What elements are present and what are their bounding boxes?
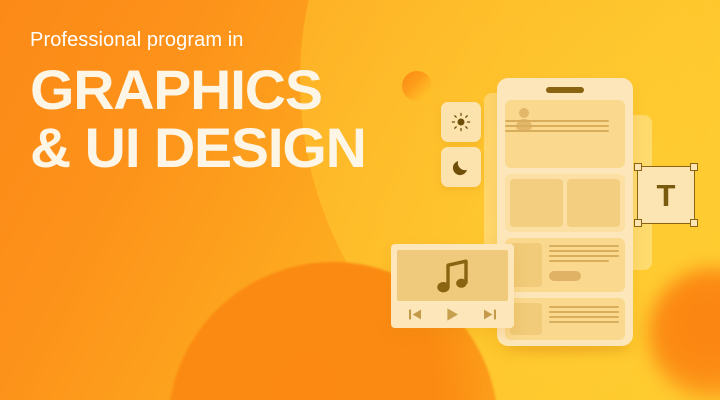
text-line xyxy=(549,260,609,262)
list-thumbnail xyxy=(510,243,542,287)
light-mode-toggle-button[interactable] xyxy=(441,102,481,142)
text-line xyxy=(549,306,619,308)
play-button[interactable] xyxy=(445,307,460,322)
headline-line-1: GRAPHICS xyxy=(30,63,438,117)
resize-handle-top-left[interactable] xyxy=(634,163,642,171)
next-icon xyxy=(483,308,497,321)
text-line xyxy=(549,316,619,318)
next-track-button[interactable] xyxy=(483,308,497,321)
list-text-lines xyxy=(549,306,619,326)
text-line xyxy=(505,125,609,127)
text-tool-glyph: T xyxy=(657,180,676,211)
headline-block: Professional program in GRAPHICS & UI DE… xyxy=(30,30,430,176)
text-line xyxy=(549,255,619,257)
avatar-head xyxy=(519,108,529,118)
previous-icon xyxy=(408,308,422,321)
grid-tile xyxy=(510,179,563,227)
play-icon xyxy=(445,307,460,322)
profile-text-lines xyxy=(505,120,609,135)
music-player-widget xyxy=(391,244,514,328)
sun-icon xyxy=(451,112,471,132)
list-text-lines xyxy=(549,245,619,265)
promo-banner: Professional program in GRAPHICS & UI DE… xyxy=(0,0,720,400)
list-item xyxy=(505,298,625,340)
grid-tile xyxy=(567,179,620,227)
resize-handle-bottom-right[interactable] xyxy=(690,219,698,227)
list-thumbnail xyxy=(510,303,542,335)
grid-card xyxy=(505,174,625,232)
text-line xyxy=(549,321,619,323)
text-tool-selection[interactable]: T xyxy=(637,166,695,224)
list-item xyxy=(505,238,625,292)
dark-mode-toggle-button[interactable] xyxy=(441,147,481,187)
text-line xyxy=(505,120,609,122)
text-line xyxy=(505,130,609,132)
music-controls xyxy=(397,306,508,323)
text-line xyxy=(549,250,619,252)
headline-line-2: & UI DESIGN xyxy=(30,121,438,175)
phone-mockup xyxy=(497,78,633,346)
phone-speaker-icon xyxy=(546,87,584,93)
list-pill-button xyxy=(549,271,581,281)
eyebrow-text: Professional program in xyxy=(30,30,430,50)
music-artwork xyxy=(397,250,508,301)
text-line xyxy=(549,311,619,313)
moon-icon xyxy=(451,157,471,177)
resize-handle-bottom-left[interactable] xyxy=(634,219,642,227)
resize-handle-top-right[interactable] xyxy=(690,163,698,171)
text-line xyxy=(549,245,619,247)
previous-track-button[interactable] xyxy=(408,308,422,321)
music-note-icon xyxy=(435,257,471,295)
